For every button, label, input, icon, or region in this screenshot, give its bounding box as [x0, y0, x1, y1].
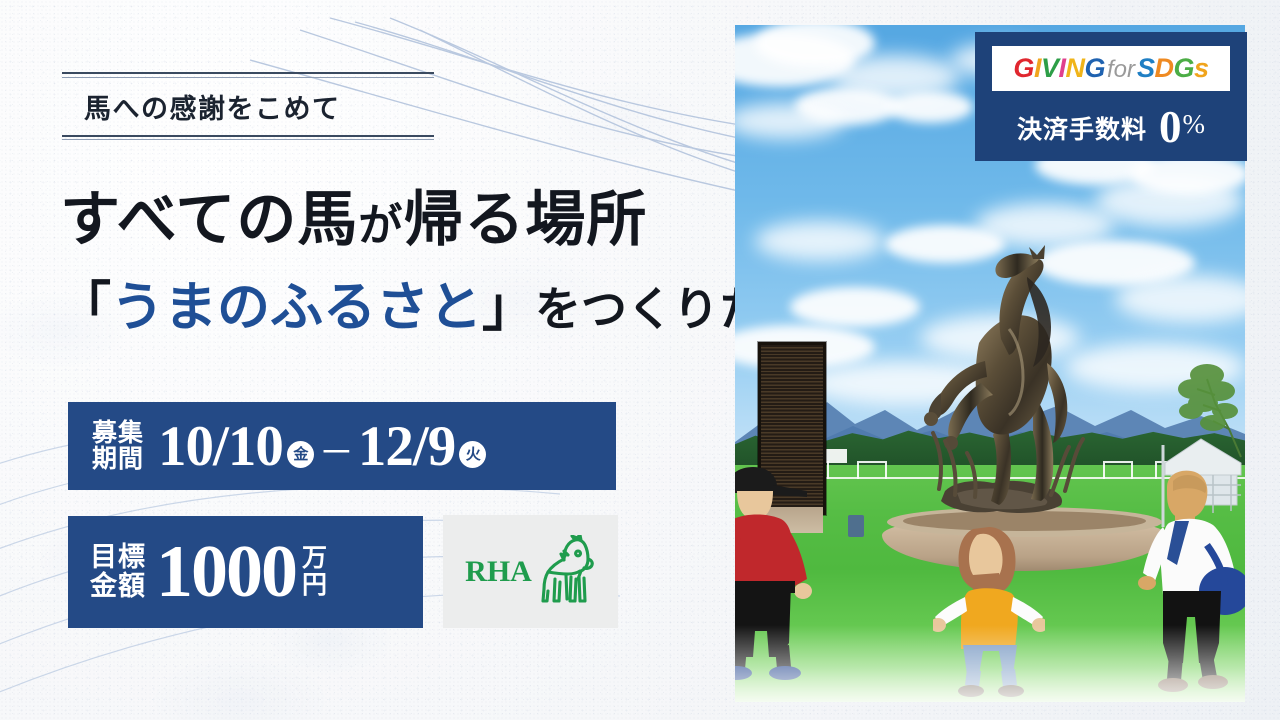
sdgs-letter: s [1194, 53, 1209, 83]
title-line1-part3: が [358, 201, 403, 250]
sdgs-letter: G [1084, 53, 1105, 83]
sdgs-letter: S [1137, 53, 1155, 83]
title-close-bracket: 」 [482, 279, 535, 337]
sdgs-letter: N [1065, 53, 1084, 83]
period-value: 10/10金–12/9火 [158, 418, 486, 475]
sdgs-for-word: for [1105, 56, 1137, 83]
poster-canvas: 馬への感謝をこめて すべての馬が帰る場所 「うまのふるさと」をつくりたい 募集 … [0, 0, 1280, 720]
goalpost [1103, 461, 1133, 479]
giving-for-sdgs-wordmark: GIVINGforSDGs [1013, 55, 1208, 82]
fee-unit: % [1183, 111, 1206, 138]
fee-row: 決済手数料 0 % [1017, 105, 1205, 150]
sdgs-letter: I [1034, 53, 1041, 83]
sdgs-logo-plate: GIVINGforSDGs [992, 46, 1230, 91]
goal-amount: 1000 [156, 535, 296, 609]
period-end-day-chip: 火 [459, 441, 486, 468]
goal-label-line2: 金額 [90, 572, 146, 601]
giving-for-sdgs-badge: GIVINGforSDGs 決済手数料 0 % [975, 32, 1247, 161]
period-separator: – [324, 421, 348, 471]
period-start-date: 10/10 [158, 418, 283, 475]
horse-icon [534, 535, 596, 609]
period-label: 募集 期間 [92, 420, 144, 473]
page-title-line2: 「うまのふるさと」をつくりたい [58, 282, 811, 335]
goal-unit-line1: 万 [302, 545, 327, 572]
cloud [887, 91, 973, 123]
eyebrow-text: 馬への感謝をこめて [62, 78, 434, 135]
eyebrow-rule-bottom-thin [62, 139, 434, 140]
photo-bottom-fade [735, 625, 1245, 702]
title-line1-part1: すべて [60, 187, 236, 253]
sdgs-letter: G [1174, 53, 1195, 83]
goal-label-line1: 目標 [90, 543, 146, 572]
period-start-day-chip: 金 [287, 441, 314, 468]
goal-label: 目標 金額 [90, 543, 146, 600]
goal-unit: 万 円 [302, 545, 327, 599]
period-end-date: 12/9 [358, 418, 455, 475]
period-label-line2: 期間 [92, 446, 144, 473]
goalpost [857, 461, 887, 479]
title-highlight: うまのふるさと [111, 279, 482, 337]
page-title-line1: すべての馬が帰る場所 [60, 190, 647, 250]
goal-badge: 目標 金額 1000 万 円 [68, 516, 423, 628]
fee-value: 0 [1159, 105, 1182, 150]
sdgs-letter: D [1155, 53, 1174, 83]
sdgs-letter: V [1041, 53, 1059, 83]
rha-logo: RHA [443, 515, 618, 628]
cloud [790, 287, 920, 327]
title-line1-part2: の馬 [236, 187, 358, 253]
goal-unit-line2: 円 [302, 572, 327, 599]
tree [1167, 345, 1245, 465]
title-line1-part4: 帰る場所 [403, 187, 647, 253]
cloud [755, 221, 885, 261]
eyebrow-rule-top [62, 72, 434, 74]
title-open-bracket: 「 [58, 279, 111, 337]
horse-statue-icon [905, 243, 1105, 533]
eyebrow-block: 馬への感謝をこめて [62, 72, 434, 140]
rha-logo-text: RHA [465, 555, 532, 589]
eyebrow-rule-bottom [62, 135, 434, 137]
trash-bin [848, 515, 864, 537]
fee-label: 決済手数料 [1017, 110, 1147, 146]
sdgs-letter: G [1013, 53, 1034, 83]
period-label-line1: 募集 [92, 420, 144, 447]
period-badge: 募集 期間 10/10金–12/9火 [68, 402, 616, 490]
